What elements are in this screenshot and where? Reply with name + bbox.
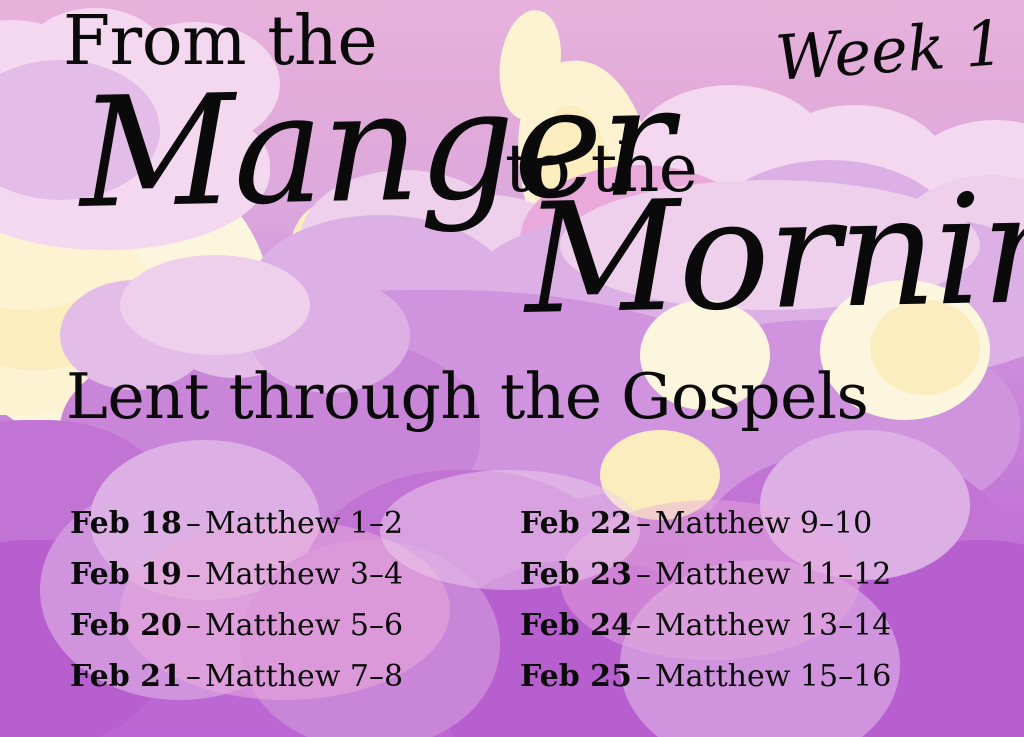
schedule-date: Feb 18 bbox=[70, 506, 182, 541]
schedule-row: Feb 22–Matthew 9–10 bbox=[520, 506, 970, 541]
schedule-date: Feb 22 bbox=[520, 506, 632, 541]
schedule-row: Feb 19–Matthew 3–4 bbox=[70, 557, 520, 592]
schedule-dash: – bbox=[632, 608, 655, 643]
reading-schedule: Feb 18–Matthew 1–2Feb 22–Matthew 9–10Feb… bbox=[70, 498, 970, 702]
sunray-left bbox=[0, 250, 110, 370]
schedule-dash: – bbox=[632, 659, 655, 694]
page-subtitle: Lent through the Gospels bbox=[66, 365, 868, 428]
schedule-dash: – bbox=[632, 557, 655, 592]
schedule-dash: – bbox=[632, 506, 655, 541]
schedule-row: Feb 23–Matthew 11–12 bbox=[520, 557, 970, 592]
schedule-dash: – bbox=[182, 659, 205, 694]
schedule-row: Feb 24–Matthew 13–14 bbox=[520, 608, 970, 643]
schedule-reading: Matthew 13–14 bbox=[655, 608, 891, 643]
schedule-row: Feb 21–Matthew 7–8 bbox=[70, 659, 520, 694]
schedule-row: Feb 25–Matthew 15–16 bbox=[520, 659, 970, 694]
schedule-reading: Matthew 1–2 bbox=[205, 506, 403, 541]
schedule-date: Feb 25 bbox=[520, 659, 632, 694]
schedule-reading: Matthew 15–16 bbox=[655, 659, 891, 694]
schedule-row: Feb 18–Matthew 1–2 bbox=[70, 506, 520, 541]
schedule-reading: Matthew 5–6 bbox=[205, 608, 403, 643]
cloud-midleft-d bbox=[120, 255, 310, 355]
schedule-row: Feb 20–Matthew 5–6 bbox=[70, 608, 520, 643]
schedule-date: Feb 21 bbox=[70, 659, 182, 694]
schedule-dash: – bbox=[182, 608, 205, 643]
schedule-reading: Matthew 3–4 bbox=[205, 557, 403, 592]
schedule-date: Feb 24 bbox=[520, 608, 632, 643]
devotional-poster: From the Manger to the Morning Week 1 Le… bbox=[0, 0, 1024, 737]
schedule-reading: Matthew 7–8 bbox=[205, 659, 403, 694]
schedule-dash: – bbox=[182, 557, 205, 592]
schedule-dash: – bbox=[182, 506, 205, 541]
schedule-reading: Matthew 11–12 bbox=[655, 557, 891, 592]
schedule-date: Feb 19 bbox=[70, 557, 182, 592]
schedule-date: Feb 23 bbox=[520, 557, 632, 592]
week-badge: Week 1 bbox=[774, 12, 1007, 90]
title-script-morning: Morning bbox=[523, 170, 1024, 336]
schedule-reading: Matthew 9–10 bbox=[655, 506, 872, 541]
schedule-date: Feb 20 bbox=[70, 608, 182, 643]
